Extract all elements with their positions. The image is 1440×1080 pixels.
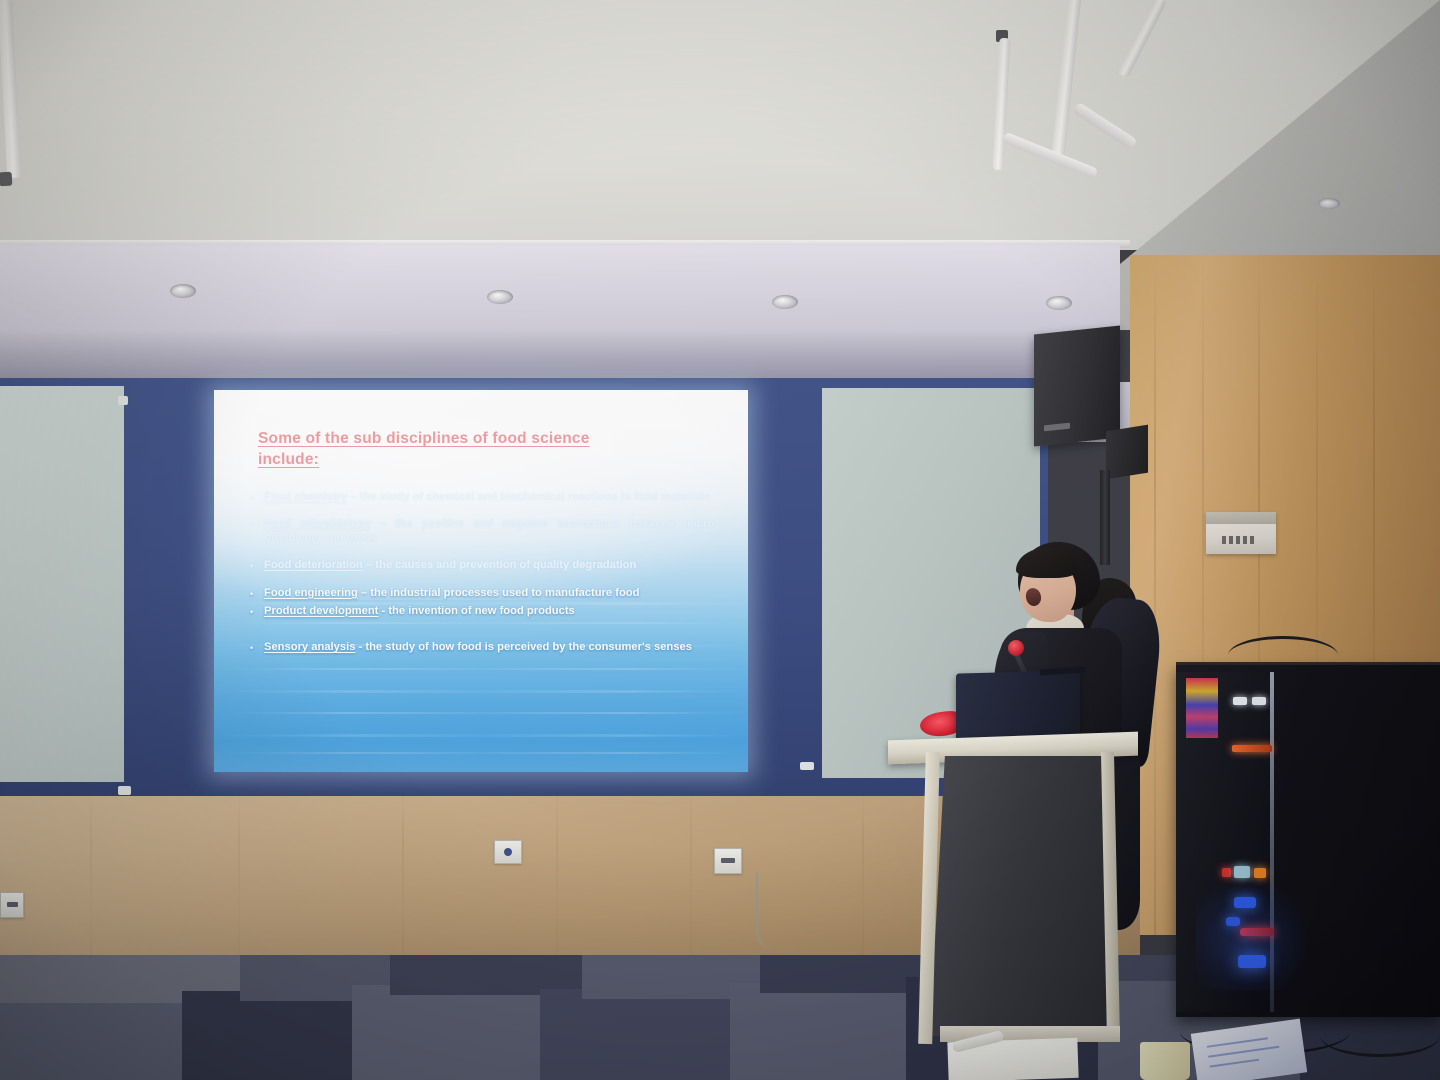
rack-led-glow [1196, 880, 1306, 990]
rack-status-led [1252, 697, 1266, 705]
bullet-text: Sensory analysis - the study of how food… [264, 640, 718, 654]
bullet-marker: • [250, 586, 264, 600]
speaker-pole [1100, 470, 1110, 565]
bullet-text: Food chemistry – the study of chemical a… [264, 490, 718, 504]
carpet-tile [730, 983, 914, 1080]
recessed-light [772, 295, 798, 309]
paper-cup[interactable] [1140, 1042, 1190, 1080]
wall-control-box-vent [1222, 536, 1254, 544]
bullet-term: Sensory analysis [264, 641, 355, 653]
recessed-light [1318, 198, 1340, 209]
wall-outlet-plate[interactable] [494, 840, 522, 864]
av-cable [1320, 1014, 1440, 1057]
slide-bullet: • Product development - the invention of… [250, 604, 718, 618]
bullet-marker: • [250, 604, 264, 618]
board-clip [118, 396, 128, 405]
microphone-head [1008, 640, 1024, 656]
bullet-term: Food engineering [264, 587, 358, 599]
wall-control-box-lid [1206, 512, 1276, 524]
bullet-text: Food microbiology – the positive and neg… [264, 517, 718, 545]
bullet-marker: • [250, 640, 264, 654]
slide-bullet: • Food microbiology – the positive and n… [250, 517, 718, 545]
whiteboard-left-panel [0, 386, 124, 782]
bullet-term: Food microbiology [264, 518, 371, 530]
bullet-text: Food deterioration – the causes and prev… [264, 558, 718, 572]
slide-bullet-list: • Food chemistry – the study of chemical… [250, 490, 718, 667]
speaker-bracket [1106, 425, 1148, 480]
slide-title-line2: include: [258, 451, 319, 468]
rack-status-led [1254, 868, 1266, 878]
slide-title: Some of the sub disciplines of food scie… [258, 428, 718, 470]
bullet-term: Food deterioration [264, 559, 363, 571]
carpet-tile [0, 1003, 190, 1080]
bullet-marker: • [250, 558, 264, 572]
wall-outlet-plate[interactable] [0, 892, 24, 918]
bullet-rest: - the invention of new food products [382, 605, 575, 617]
av-cable [1228, 636, 1338, 675]
slide-bullet: • Food engineering – the industrial proc… [250, 586, 718, 600]
carpet-tile [182, 991, 362, 1080]
av-rack-sticker [1186, 678, 1218, 738]
rack-status-led [1222, 868, 1231, 877]
slide-title-line1: Some of the sub disciplines of food scie… [258, 430, 590, 447]
rack-status-led [1233, 697, 1247, 705]
bullet-rest: – the industrial processes used to manuf… [361, 587, 640, 599]
rack-status-led [1234, 866, 1250, 878]
recessed-light [487, 290, 513, 304]
wall-cable [756, 872, 778, 952]
projected-slide: Some of the sub disciplines of food scie… [214, 390, 748, 772]
slide-bullet: • Food deterioration – the causes and pr… [250, 558, 718, 572]
bullet-rest: – the study of chemical and biochemical … [350, 491, 710, 503]
rack-status-led [1232, 745, 1272, 752]
recessed-light [1046, 296, 1072, 310]
lecture-room-photo: Some of the sub disciplines of food scie… [0, 0, 1440, 1080]
bullet-marker: • [250, 517, 264, 545]
bullet-marker: • [250, 490, 264, 504]
board-clip [800, 762, 814, 770]
slide-bullet: • Food chemistry – the study of chemical… [250, 490, 718, 504]
carpet-tile [352, 985, 552, 1080]
bullet-term: Product development [264, 605, 378, 617]
ceiling-tube-light-cap [0, 172, 12, 187]
bullet-term: Food chemistry [264, 491, 347, 503]
podium-body [930, 756, 1116, 1036]
board-clip [118, 786, 131, 795]
slide-bullet: • Sensory analysis - the study of how fo… [250, 640, 718, 654]
bullet-text: Product development - the invention of n… [264, 604, 718, 618]
bullet-rest: – the causes and prevention of quality d… [366, 559, 636, 571]
carpet-tile [540, 989, 740, 1080]
bullet-rest: - the study of how food is perceived by … [359, 641, 692, 653]
wall-outlet-plate[interactable] [714, 848, 742, 874]
bullet-text: Food engineering – the industrial proces… [264, 586, 718, 600]
recessed-light [170, 284, 196, 298]
